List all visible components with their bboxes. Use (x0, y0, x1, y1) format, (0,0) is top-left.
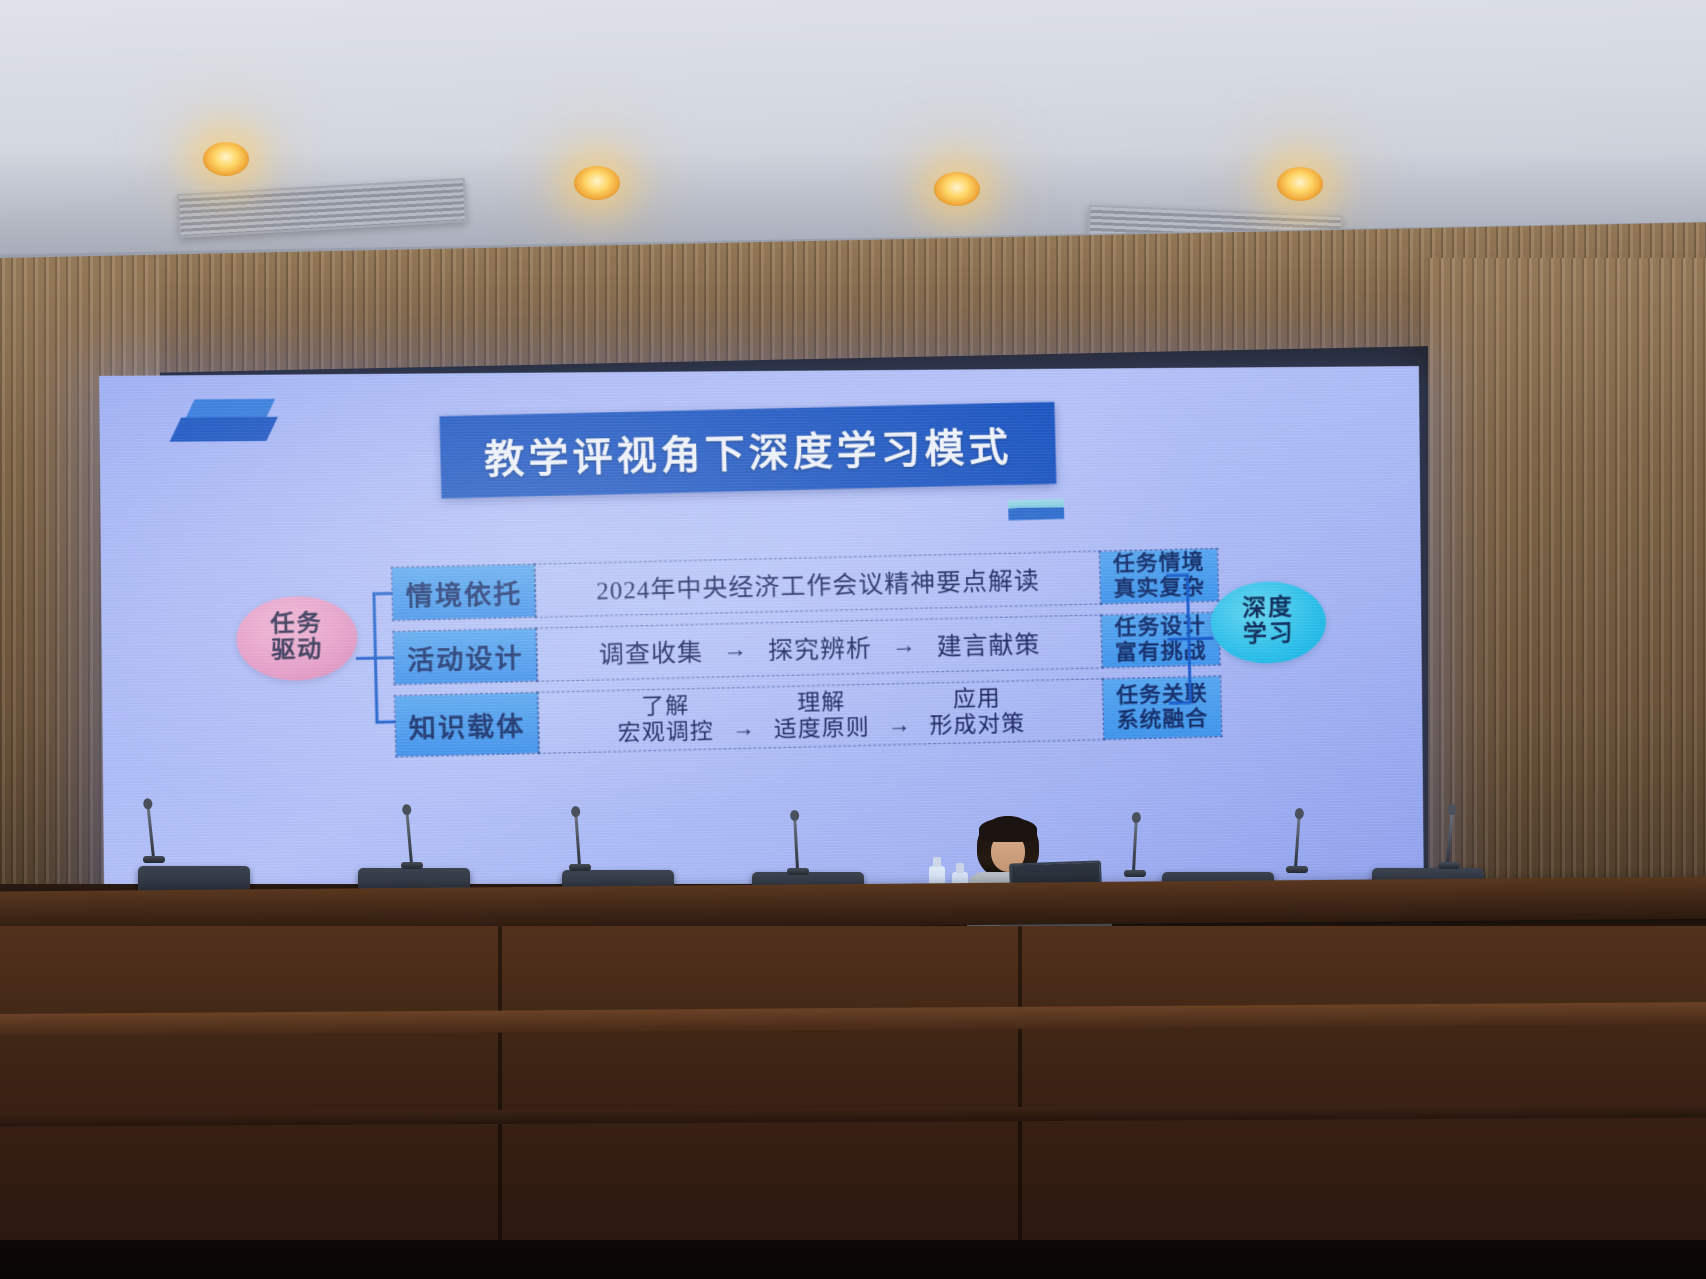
mic-base-5 (1124, 870, 1146, 877)
mic-base-1 (143, 856, 165, 863)
mic-base-2 (401, 862, 423, 869)
row-tag: 情境依托 (392, 565, 536, 620)
page-title: 教学评视角下深度学习模式 (483, 415, 1012, 486)
pair-top: 理解 (797, 690, 846, 717)
flow-pair: 了解 宏观调控 (617, 693, 714, 747)
outcome-line1: 任务关联 (1116, 682, 1208, 709)
concept-diagram: 任务 驱动 情境依托 2024年中央经济工作会议精神要点解读 任务情境 真实复杂 (222, 528, 1357, 790)
led-presentation-screen[interactable]: 教学评视角下深度学习模式 任务 驱动 情境依托 2024年中央经济工作会议精神要… (99, 366, 1424, 909)
diagram-row: 活动设计 调查收集 → 探究辨析 → 建言献策 任务设计 富有挑战 (393, 613, 1219, 685)
row-tag: 知识载体 (395, 693, 539, 757)
downlight-4 (1277, 167, 1323, 201)
arrow-icon: → (732, 715, 757, 744)
stacked-parallelogram-logo (175, 397, 296, 450)
node-label-line1: 任务 (270, 612, 323, 639)
mic-base-7 (1438, 862, 1460, 869)
desk-panel-center (500, 926, 1020, 1256)
pair-bottom: 适度原则 (774, 715, 870, 743)
decorative-chip (1008, 499, 1064, 520)
connector-left-branch-1 (372, 592, 394, 596)
row-outcome: 任务关联 系统融合 (1103, 676, 1222, 739)
connector-right-stem (1187, 637, 1213, 641)
outcome-line2: 富有挑战 (1115, 639, 1207, 666)
diagram-row: 知识载体 了解 宏观调控 → 理解 适度原则 → (395, 676, 1221, 756)
flow-pair-sequence: 了解 宏观调控 → 理解 适度原则 → 应用 形成对策 (617, 685, 1026, 746)
arrow-icon: → (723, 636, 749, 664)
row-outcome: 任务情境 真实复杂 (1100, 549, 1218, 604)
downlight-2 (574, 166, 620, 200)
connector-right-branch-3 (1169, 701, 1191, 705)
desk-panel-left (0, 926, 500, 1256)
outcome-line1: 任务情境 (1113, 551, 1205, 578)
arrow-icon: → (891, 632, 917, 660)
row-content: 调查收集 → 探究辨析 → 建言献策 (536, 615, 1102, 680)
flow-step: 建言献策 (936, 625, 1040, 663)
logo-shape-bottom (170, 417, 278, 442)
downlight-1 (203, 142, 249, 176)
wall-panel-right (1428, 258, 1706, 918)
node-label-line2: 驱动 (271, 638, 324, 665)
downlight-3 (934, 172, 980, 206)
diagram-node-task-driven: 任务 驱动 (236, 595, 359, 682)
pair-top: 应用 (953, 686, 1001, 713)
auditorium-scene: 教学评视角下深度学习模式 任务 驱动 情境依托 2024年中央经济工作会议精神要… (0, 0, 1706, 1279)
node-label-line2: 学习 (1243, 622, 1295, 649)
flow-step: 调查收集 (598, 633, 703, 671)
slide-title-bar: 教学评视角下深度学习模式 (439, 402, 1056, 499)
desk-panel-right (1020, 926, 1706, 1256)
pair-top: 了解 (641, 693, 690, 720)
row-tag: 活动设计 (393, 629, 537, 684)
mic-base-4 (787, 868, 809, 875)
flow-pair: 理解 适度原则 (773, 689, 870, 743)
diagram-node-deep-learning: 深度 学习 (1210, 580, 1327, 664)
row-content: 了解 宏观调控 → 理解 适度原则 → 应用 形成对策 (538, 679, 1105, 753)
outcome-line2: 系统融合 (1116, 707, 1208, 734)
pair-bottom: 宏观调控 (617, 719, 714, 747)
flow-sequence: 调查收集 → 探究辨析 → 建言献策 (598, 625, 1040, 671)
mic-base-3 (569, 864, 591, 871)
connector-left-branch-3 (375, 720, 397, 724)
slide-surface: 教学评视角下深度学习模式 任务 驱动 情境依托 2024年中央经济工作会议精神要… (99, 366, 1424, 909)
connector-left-branch-2 (374, 656, 396, 660)
pair-bottom: 形成对策 (929, 711, 1025, 739)
stage-floor (0, 1240, 1706, 1279)
arrow-icon: → (887, 712, 912, 741)
outcome-line2: 真实复杂 (1113, 575, 1205, 602)
presenter-hair-front (979, 818, 1037, 842)
row-content: 2024年中央经济工作会议精神要点解读 (535, 552, 1101, 617)
connector-right-branch-1 (1166, 574, 1188, 577)
node-label-line1: 深度 (1242, 596, 1294, 623)
flow-pair: 应用 形成对策 (929, 685, 1026, 739)
diagram-row: 情境依托 2024年中央经济工作会议精神要点解读 任务情境 真实复杂 (392, 549, 1218, 620)
connector-right-branch-2 (1167, 637, 1189, 641)
mic-base-6 (1286, 866, 1308, 873)
flow-step: 探究辨析 (768, 629, 873, 667)
